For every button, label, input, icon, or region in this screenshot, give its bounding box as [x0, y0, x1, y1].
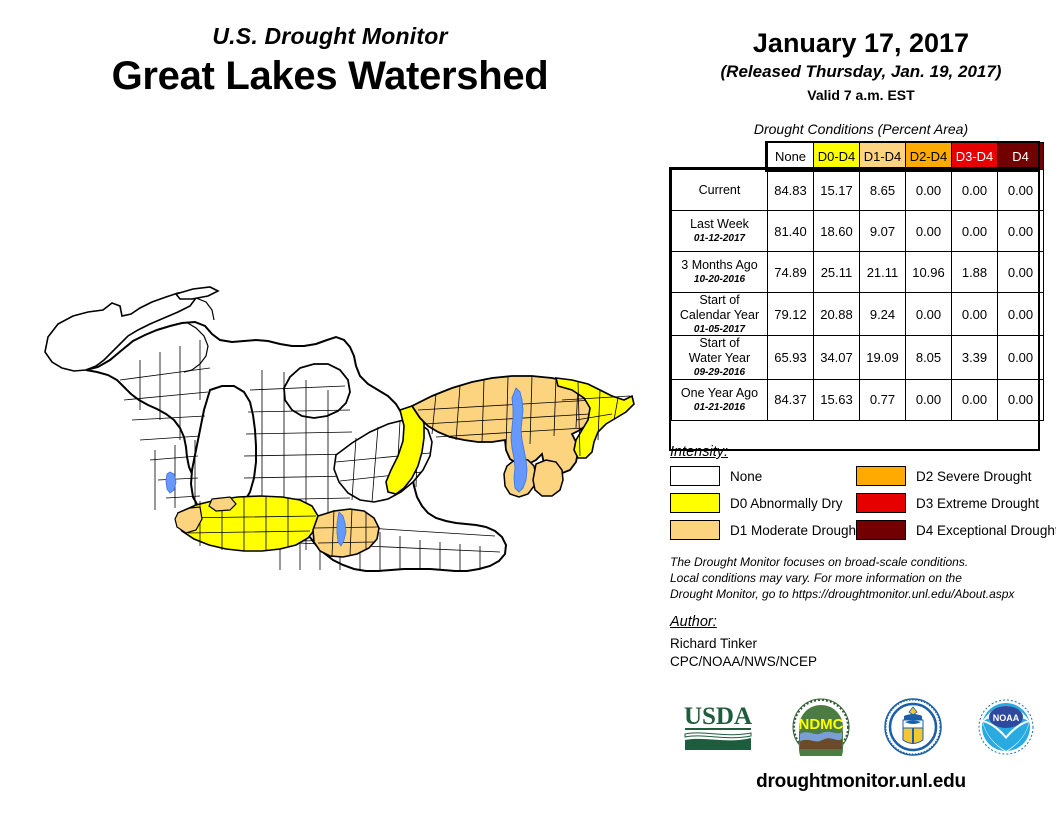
- row-label-date: 01-05-2017: [672, 324, 767, 336]
- drought-conditions-table: None D0-D4 D1-D4 D2-D4 D3-D4 D4 Current8…: [671, 142, 1044, 421]
- row-label-main: Start ofWater Year: [689, 336, 750, 365]
- table-cell: 0.00: [998, 170, 1044, 211]
- row-label: Start ofCalendar Year01-05-2017: [672, 293, 768, 336]
- ndmc-logo: NDMC: [792, 698, 850, 761]
- table-cell: 18.60: [814, 211, 860, 252]
- table-cell: 0.00: [952, 293, 998, 336]
- table-body: Current84.8315.178.650.000.000.00Last We…: [672, 170, 1044, 421]
- intensity-legend-title: Intensity:: [670, 444, 1050, 460]
- table-cell: 9.24: [860, 293, 906, 336]
- legend-label: D1 Moderate Drought: [730, 523, 860, 538]
- table-cell: 84.37: [768, 379, 814, 420]
- column-header-d3d4: D3-D4: [952, 143, 998, 170]
- legend-swatch: [670, 466, 720, 486]
- usda-logo: USDA: [679, 700, 757, 759]
- column-header-none: None: [768, 143, 814, 170]
- svg-text:USDA: USDA: [684, 703, 752, 730]
- table-header-row: None D0-D4 D1-D4 D2-D4 D3-D4 D4: [672, 143, 1044, 170]
- table-cell: 0.00: [998, 252, 1044, 293]
- table-cell: 0.00: [906, 211, 952, 252]
- author-affiliation: CPC/NOAA/NWS/NCEP: [670, 653, 1045, 671]
- disclaimer-line-2: Local conditions may vary. For more info…: [670, 571, 1045, 587]
- table-cell: 0.00: [998, 336, 1044, 379]
- row-label: Start ofWater Year09-29-2016: [672, 336, 768, 379]
- table-cell: 34.07: [814, 336, 860, 379]
- legend-swatch: [856, 493, 906, 513]
- column-header-d1d4: D1-D4: [860, 143, 906, 170]
- table-row: One Year Ago01-21-201684.3715.630.770.00…: [672, 379, 1044, 420]
- table-cell: 8.05: [906, 336, 952, 379]
- table-cell: 0.00: [906, 379, 952, 420]
- legend-label: None: [730, 469, 762, 484]
- valid-date: January 17, 2017: [666, 28, 1056, 59]
- map-drought-d1-ny-lobes: [504, 458, 563, 497]
- table-cell: 0.00: [906, 170, 952, 211]
- column-header-d2d4: D2-D4: [906, 143, 952, 170]
- legend-item: None: [670, 466, 856, 486]
- table-cell: 0.77: [860, 379, 906, 420]
- row-label: Current: [672, 170, 768, 211]
- table-cell: 25.11: [814, 252, 860, 293]
- table-cell: 19.09: [860, 336, 906, 379]
- author-title: Author:: [670, 614, 1045, 630]
- disclaimer-text: The Drought Monitor focuses on broad-sca…: [670, 555, 1045, 602]
- legend-label: D3 Extreme Drought: [916, 496, 1039, 511]
- row-label-date: 10-20-2016: [672, 274, 767, 286]
- legend-swatch: [856, 520, 906, 540]
- svg-text:NOAA: NOAA: [993, 713, 1020, 723]
- page-subtitle: U.S. Drought Monitor: [0, 24, 660, 49]
- row-label: Last Week01-12-2017: [672, 211, 768, 252]
- intensity-legend-grid: NoneD2 Severe DroughtD0 Abnormally DryD3…: [670, 466, 1050, 540]
- legend-label: D0 Abnormally Dry: [730, 496, 843, 511]
- table-corner-cell: [672, 143, 768, 170]
- table-cell: 81.40: [768, 211, 814, 252]
- usdc-seal-logo: [884, 698, 942, 761]
- row-label-date: 01-21-2016: [672, 402, 767, 414]
- row-label: 3 Months Ago10-20-2016: [672, 252, 768, 293]
- page-title: Great Lakes Watershed: [0, 53, 660, 99]
- table-cell: 10.96: [906, 252, 952, 293]
- legend-item: D1 Moderate Drought: [670, 520, 856, 540]
- table-cell: 15.17: [814, 170, 860, 211]
- intensity-legend: Intensity: NoneD2 Severe DroughtD0 Abnor…: [670, 444, 1050, 540]
- table-cell: 0.00: [998, 293, 1044, 336]
- table-cell: 0.00: [952, 211, 998, 252]
- legend-swatch: [670, 520, 720, 540]
- legend-item: D2 Severe Drought: [856, 466, 1042, 486]
- row-label-date: 09-29-2016: [672, 367, 767, 379]
- table-cell: 0.00: [998, 211, 1044, 252]
- row-label-main: Last Week: [690, 217, 749, 231]
- column-header-d0d4: D0-D4: [814, 143, 860, 170]
- row-label: One Year Ago01-21-2016: [672, 379, 768, 420]
- column-header-d4: D4: [998, 143, 1044, 170]
- author-name: Richard Tinker: [670, 635, 1045, 653]
- table-cell: 0.00: [906, 293, 952, 336]
- table-cell: 0.00: [952, 379, 998, 420]
- logo-row: USDA NDMC: [662, 695, 1052, 763]
- site-url: droughtmonitor.unl.edu: [666, 771, 1056, 793]
- table-cell: 21.11: [860, 252, 906, 293]
- map-water-lake-wisconsin: [166, 472, 176, 493]
- table-cell: 65.93: [768, 336, 814, 379]
- legend-item: D3 Extreme Drought: [856, 493, 1042, 513]
- legend-item: D4 Exceptional Drought: [856, 520, 1042, 540]
- table-cell: 20.88: [814, 293, 860, 336]
- row-label-main: Start ofCalendar Year: [680, 293, 759, 322]
- legend-label: D2 Severe Drought: [916, 469, 1032, 484]
- table-cell: 15.63: [814, 379, 860, 420]
- table-row: Start ofCalendar Year01-05-201779.1220.8…: [672, 293, 1044, 336]
- svg-text:NDMC: NDMC: [798, 716, 843, 733]
- date-block: January 17, 2017 (Released Thursday, Jan…: [666, 28, 1056, 103]
- drought-map: [0, 240, 660, 640]
- table-row: Current84.8315.178.650.000.000.00: [672, 170, 1044, 211]
- valid-time: Valid 7 a.m. EST: [666, 87, 1056, 103]
- disclaimer-line-3: Drought Monitor, go to https://droughtmo…: [670, 587, 1045, 603]
- table-row: Last Week01-12-201781.4018.609.070.000.0…: [672, 211, 1044, 252]
- noaa-logo: NOAA: [977, 698, 1035, 761]
- row-label-date: 01-12-2017: [672, 233, 767, 245]
- released-date: (Released Thursday, Jan. 19, 2017): [666, 62, 1056, 82]
- legend-swatch: [670, 493, 720, 513]
- row-label-main: 3 Months Ago: [681, 258, 757, 272]
- table-cell: 1.88: [952, 252, 998, 293]
- disclaimer-line-1: The Drought Monitor focuses on broad-sca…: [670, 555, 1045, 571]
- table-cell: 8.65: [860, 170, 906, 211]
- author-block: Author: Richard Tinker CPC/NOAA/NWS/NCEP: [670, 614, 1045, 671]
- map-drought-d1-newyork: [412, 376, 596, 474]
- row-label-main: One Year Ago: [681, 386, 758, 400]
- table-cell: 79.12: [768, 293, 814, 336]
- table-cell: 74.89: [768, 252, 814, 293]
- legend-label: D4 Exceptional Drought: [916, 523, 1056, 538]
- row-label-main: Current: [699, 183, 741, 197]
- table-cell: 9.07: [860, 211, 906, 252]
- table-cell: 0.00: [952, 170, 998, 211]
- legend-item: D0 Abnormally Dry: [670, 493, 856, 513]
- table-cell: 0.00: [998, 379, 1044, 420]
- title-block: U.S. Drought Monitor Great Lakes Watersh…: [0, 24, 660, 99]
- legend-swatch: [856, 466, 906, 486]
- table-row: Start ofWater Year09-29-201665.9334.0719…: [672, 336, 1044, 379]
- table-cell: 3.39: [952, 336, 998, 379]
- table-cell: 84.83: [768, 170, 814, 211]
- table-caption: Drought Conditions (Percent Area): [666, 121, 1056, 137]
- table-row: 3 Months Ago10-20-201674.8925.1121.1110.…: [672, 252, 1044, 293]
